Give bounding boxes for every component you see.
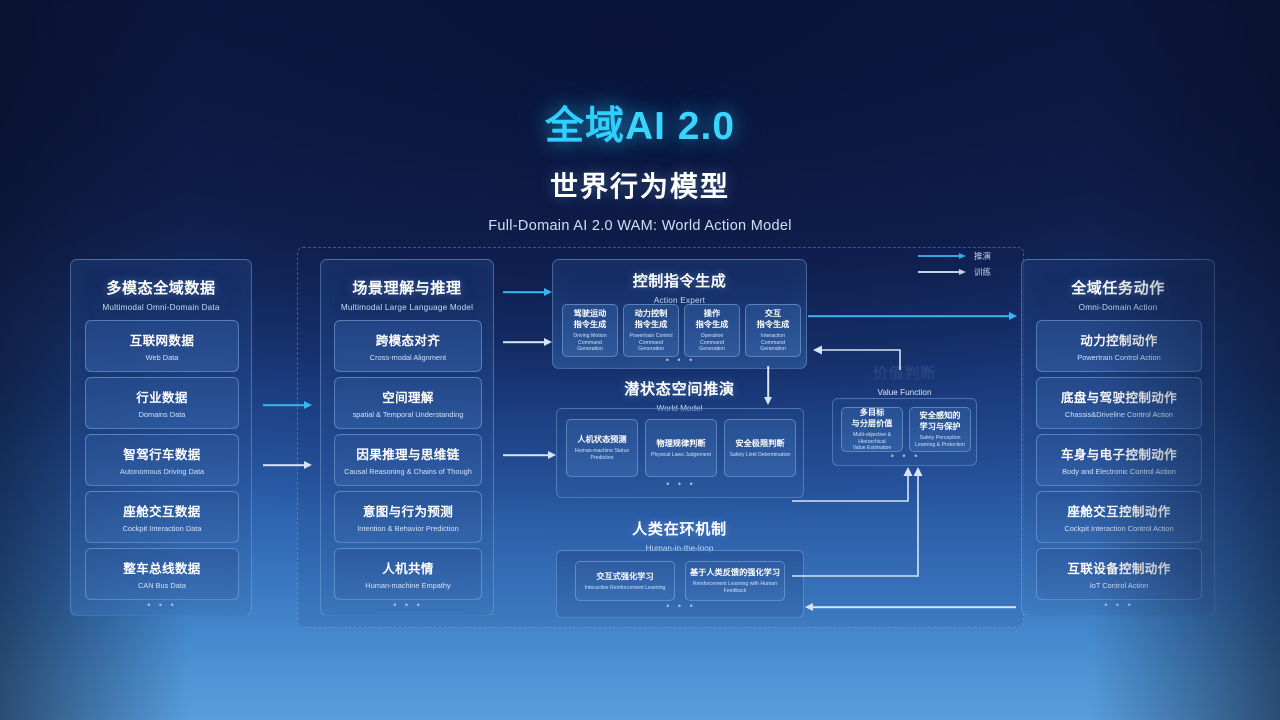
minicard-physical-laws-judgement[interactable]: 物理规律判断 Physical Laws Judgement [645,419,717,477]
card-chassis-driveline-control-action[interactable]: 底盘与驾驶控制动作 Chassis&Driveline Control Acti… [1036,377,1202,429]
minicard-operation-command-en: OperationCommand Generation [687,333,737,353]
minicard-operation-command-cn: 操作指令生成 [696,308,729,330]
minicard-powertrain-command[interactable]: 动力控制指令生成 Powertrain ControlCommand Gener… [623,304,679,357]
arrow-omni-action-to-human-loop-feedback [806,601,1016,613]
minicard-interactive-rl-cn: 交互式强化学习 [596,571,653,582]
card-autonomous-driving-data-en: Autonomous Driving Data [120,467,204,476]
card-cross-modal-alignment-en: Cross-modal Alignment [370,353,446,362]
minicard-safety-limit-determination-cn: 安全极限判断 [735,438,784,449]
panel-multimodal-data-header: 多模态全域数据 Multimodal Omni-Domain Data [71,277,251,312]
card-powertrain-control-action[interactable]: 动力控制动作 Powertrain Control Action [1036,320,1202,372]
card-powertrain-control-action-en: Powertrain Control Action [1077,353,1160,362]
page-subtitle-cn: 世界行为模型 [0,165,1280,205]
panel-omni-domain-action-ellipsis: • • • [1022,600,1216,610]
panel-multimodal-data[interactable]: 多模态全域数据 Multimodal Omni-Domain Data 互联网数… [70,259,252,616]
panel-value-function[interactable]: 多目标与分层价值 Multi-objective & HierarchicalV… [832,398,977,466]
minicard-driving-motion-command-en: Driving MotionCommand Generation [565,333,615,353]
arrow-mllm-to-action-expert-inference [503,286,551,298]
card-iot-control-action-cn: 互联设备控制动作 [1067,558,1170,577]
card-chassis-driveline-control-action-cn: 底盘与驾驶控制动作 [1061,387,1177,406]
card-cockpit-interaction-data-en: Cockpit Interaction Data [123,524,202,533]
minicard-safety-perception-learning-en: Safety PerceptionLearning & Protection [915,435,965,449]
panel-human-in-the-loop-ellipsis: • • • [557,601,805,611]
panel-multimodal-data-title-cn: 多模态全域数据 [71,277,251,298]
card-autonomous-driving-data-cn: 智驾行车数据 [123,444,200,463]
minicard-interaction-command[interactable]: 交互指令生成 InteractionCommand Generation [745,304,801,357]
panel-action-expert-title-cn: 控制指令生成 [553,270,806,291]
minicard-human-machine-status-prediction[interactable]: 人机状态预测 Human-machine Status Prediction [566,419,638,477]
page-title-en: AI 2.0 [625,105,735,148]
arrow-action-expert-to-omni-action [808,310,1016,322]
card-can-bus-data-cn: 整车总线数据 [123,558,200,577]
card-chassis-driveline-control-action-en: Chassis&Driveline Control Action [1065,410,1173,419]
page-subtitle-en: Full-Domain AI 2.0 WAM: World Action Mod… [0,218,1280,234]
minicard-multi-objective-value-en: Multi-objective & HierarchicalValue Esti… [844,432,900,452]
panel-scene-understanding-header: 场景理解与推理 Multimodal Large Language Model [321,277,493,312]
panel-world-model-ellipsis: • • • [557,479,805,489]
human-loop-title: 人类在环机制 Human-in-the-loop [552,518,807,553]
minicard-interactive-rl-en: Interactive Reinforcement Learning [585,585,666,592]
card-web-data[interactable]: 互联网数据 Web Data [85,320,239,372]
panel-scene-understanding[interactable]: 场景理解与推理 Multimodal Large Language Model … [320,259,494,616]
card-body-electronic-control-action-cn: 车身与电子控制动作 [1061,444,1177,463]
minicard-driving-motion-command-cn: 驾驶运动指令生成 [574,308,607,330]
value-function-title-en: Value Function [832,388,977,397]
minicard-interactive-rl[interactable]: 交互式强化学习 Interactive Reinforcement Learni… [575,561,675,601]
page-title: 全域AI 2.0 [0,95,1280,151]
card-domains-data-en: Domains Data [139,410,186,419]
card-cockpit-interaction-control-action[interactable]: 座舱交互控制动作 Cockpit Interaction Control Act… [1036,491,1202,543]
minicard-driving-motion-command[interactable]: 驾驶运动指令生成 Driving MotionCommand Generatio… [562,304,618,357]
minicard-rlhf[interactable]: 基于人类反馈的强化学习 Reinforcement Learning with … [685,561,785,601]
card-human-machine-empathy[interactable]: 人机共情 Human-machine Empathy [334,548,482,600]
minicard-interaction-command-en: InteractionCommand Generation [748,333,798,353]
minicard-rlhf-en: Reinforcement Learning with Human Feedba… [688,581,782,595]
minicard-physical-laws-judgement-en: Physical Laws Judgement [651,452,711,459]
card-intention-behavior-prediction[interactable]: 意图与行为预测 Intention & Behavior Prediction [334,491,482,543]
arrow-value-function-to-action-expert [808,340,908,370]
minicard-physical-laws-judgement-cn: 物理规律判断 [656,438,705,449]
minicard-powertrain-command-cn: 动力控制指令生成 [635,308,668,330]
card-causal-reasoning-en: Causal Reasoning & Chains of Though [344,467,472,476]
page-title-cn: 全域 [545,105,625,148]
card-body-electronic-control-action-en: Body and Electronic Control Action [1062,467,1176,476]
panel-omni-domain-action-title-en: Omni-Domain Action [1022,303,1214,312]
card-causal-reasoning-cn: 因果推理与思维链 [356,444,459,463]
arrow-mllm-to-action-expert-training [503,336,551,348]
card-body-electronic-control-action[interactable]: 车身与电子控制动作 Body and Electronic Control Ac… [1036,434,1202,486]
panel-value-function-ellipsis: • • • [833,451,978,461]
panel-multimodal-data-ellipsis: • • • [71,600,253,610]
card-cross-modal-alignment-cn: 跨模态对齐 [376,330,441,349]
card-cockpit-interaction-control-action-cn: 座舱交互控制动作 [1067,501,1170,520]
panel-world-model[interactable]: 人机状态预测 Human-machine Status Prediction 物… [556,408,804,498]
arrow-mllm-to-world-model [503,449,555,461]
panel-omni-domain-action-title-cn: 全域任务动作 [1022,277,1214,298]
minicard-safety-limit-determination-en: Safety Limit Determination [730,452,791,459]
panel-scene-understanding-title-en: Multimodal Large Language Model [321,303,493,312]
minicard-multi-objective-value[interactable]: 多目标与分层价值 Multi-objective & HierarchicalV… [841,407,903,452]
card-cockpit-interaction-data[interactable]: 座舱交互数据 Cockpit Interaction Data [85,491,239,543]
panel-action-expert[interactable]: 控制指令生成 Action Expert 驾驶运动指令生成 Driving Mo… [552,259,807,369]
card-web-data-en: Web Data [146,353,179,362]
card-can-bus-data[interactable]: 整车总线数据 CAN Bus Data [85,548,239,600]
panel-omni-domain-action[interactable]: 全域任务动作 Omni-Domain Action 动力控制动作 Powertr… [1021,259,1215,616]
diagram-canvas: 全域AI 2.0 世界行为模型 Full-Domain AI 2.0 WAM: … [0,0,1280,720]
minicard-human-machine-status-prediction-en: Human-machine Status Prediction [569,448,635,462]
arrow-action-expert-to-world-model [762,366,774,404]
card-cockpit-interaction-control-action-en: Cockpit Interaction Control Action [1064,524,1173,533]
card-iot-control-action-en: IoT Control Action [1090,581,1149,590]
card-spatial-temporal-understanding-cn: 空间理解 [382,387,434,406]
card-web-data-cn: 互联网数据 [130,330,195,349]
minicard-human-machine-status-prediction-cn: 人机状态预测 [577,434,626,445]
card-can-bus-data-en: CAN Bus Data [138,581,186,590]
card-cross-modal-alignment[interactable]: 跨模态对齐 Cross-modal Alignment [334,320,482,372]
panel-multimodal-data-title-en: Multimodal Omni-Domain Data [71,303,251,312]
panel-omni-domain-action-header: 全域任务动作 Omni-Domain Action [1022,277,1214,312]
card-spatial-temporal-understanding-en: spatial & Temporal Understanding [353,410,464,419]
minicard-interaction-command-cn: 交互指令生成 [757,308,790,330]
arrow-data-to-mllm-inference [263,399,311,411]
minicard-rlhf-cn: 基于人类反馈的强化学习 [690,567,780,578]
panel-scene-understanding-title-cn: 场景理解与推理 [321,277,493,298]
human-loop-title-cn: 人类在环机制 [552,518,807,539]
card-human-machine-empathy-en: Human-machine Empathy [365,581,450,590]
minicard-operation-command[interactable]: 操作指令生成 OperationCommand Generation [684,304,740,357]
card-iot-control-action[interactable]: 互联设备控制动作 IoT Control Action [1036,548,1202,600]
card-causal-reasoning[interactable]: 因果推理与思维链 Causal Reasoning & Chains of Th… [334,434,482,486]
card-intention-behavior-prediction-en: Intention & Behavior Prediction [357,524,458,533]
panel-action-expert-ellipsis: • • • [553,355,808,365]
diagram-header: 全域AI 2.0 世界行为模型 Full-Domain AI 2.0 WAM: … [0,0,1280,234]
minicard-safety-perception-learning[interactable]: 安全感知的学习与保护 Safety PerceptionLearning & P… [909,407,971,452]
minicard-multi-objective-value-cn: 多目标与分层价值 [852,407,893,429]
panel-scene-understanding-ellipsis: • • • [321,600,495,610]
card-intention-behavior-prediction-cn: 意图与行为预测 [363,501,453,520]
card-domains-data-cn: 行业数据 [136,387,188,406]
card-autonomous-driving-data[interactable]: 智驾行车数据 Autonomous Driving Data [85,434,239,486]
card-cockpit-interaction-data-cn: 座舱交互数据 [123,501,200,520]
panel-action-expert-header: 控制指令生成 Action Expert [553,270,806,305]
minicard-safety-perception-learning-cn: 安全感知的学习与保护 [920,410,961,432]
card-human-machine-empathy-cn: 人机共情 [382,558,434,577]
arrow-human-loop-to-value-function [790,466,930,586]
card-spatial-temporal-understanding[interactable]: 空间理解 spatial & Temporal Understanding [334,377,482,429]
arrow-data-to-mllm-training [263,459,311,471]
minicard-powertrain-command-en: Powertrain ControlCommand Generation [626,333,676,353]
card-powertrain-control-action-cn: 动力控制动作 [1080,330,1157,349]
panel-human-in-the-loop[interactable]: 交互式强化学习 Interactive Reinforcement Learni… [556,550,804,618]
card-domains-data[interactable]: 行业数据 Domains Data [85,377,239,429]
minicard-safety-limit-determination[interactable]: 安全极限判断 Safety Limit Determination [724,419,796,477]
